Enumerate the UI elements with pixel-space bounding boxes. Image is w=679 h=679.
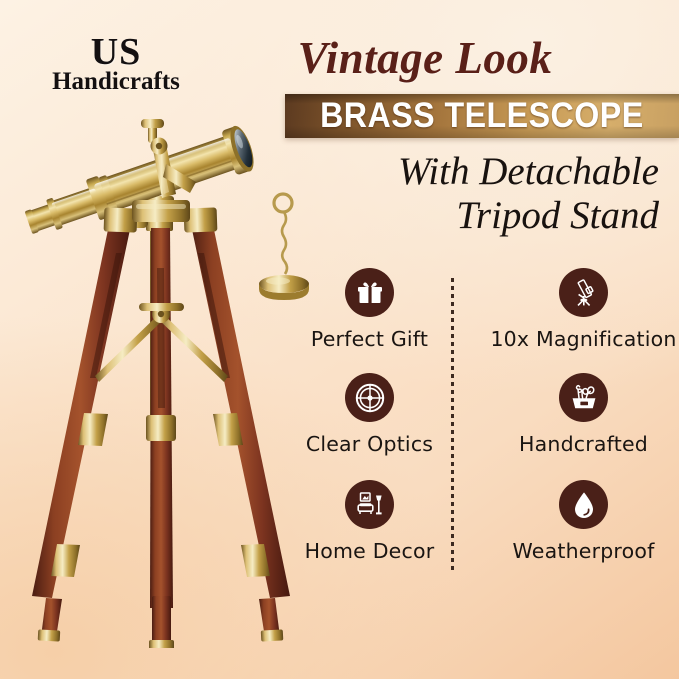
feature-column-left: Perfect Gift Clear Optics	[288, 268, 451, 588]
home-decor-icon	[345, 480, 394, 529]
brand-logo-line-1: US	[36, 33, 196, 71]
feature-label: 10x Magnification	[488, 327, 679, 351]
feature-label: Weatherproof	[488, 539, 679, 563]
feature-column-right: 10x Magnification	[488, 268, 679, 588]
crosshair-icon	[345, 373, 394, 422]
feature-label: Home Decor	[288, 539, 451, 563]
telescope-icon	[559, 268, 608, 317]
water-drop-icon	[559, 480, 608, 529]
feature-label: Perfect Gift	[288, 327, 451, 351]
feature-handcrafted[interactable]: Handcrafted	[488, 373, 679, 456]
product-name-banner: BRASS TELESCOPE	[285, 94, 679, 138]
gift-icon	[345, 268, 394, 317]
product-advertisement-poster: US Handicrafts Vintage Look BRASS TELESC…	[0, 0, 679, 679]
feature-label: Handcrafted	[488, 432, 679, 456]
feature-label: Clear Optics	[288, 432, 451, 456]
tripod-leg-right	[184, 207, 290, 641]
handcraft-icon	[559, 373, 608, 422]
feature-perfect-gift[interactable]: Perfect Gift	[288, 268, 451, 351]
feature-clear-optics[interactable]: Clear Optics	[288, 373, 451, 456]
product-image	[0, 78, 330, 648]
tripod-top-collar	[132, 200, 190, 222]
feature-weatherproof[interactable]: Weatherproof	[488, 480, 679, 563]
feature-column-divider	[451, 278, 454, 570]
feature-home-decor[interactable]: Home Decor	[288, 480, 451, 563]
product-name-text: BRASS TELESCOPE	[320, 96, 644, 136]
feature-10x-magnification[interactable]: 10x Magnification	[488, 268, 679, 351]
telescope-illustration	[0, 78, 330, 648]
feature-list: Perfect Gift Clear Optics	[288, 268, 679, 588]
tripod-leg-left	[32, 207, 137, 641]
page-title: Vintage Look	[185, 36, 665, 81]
